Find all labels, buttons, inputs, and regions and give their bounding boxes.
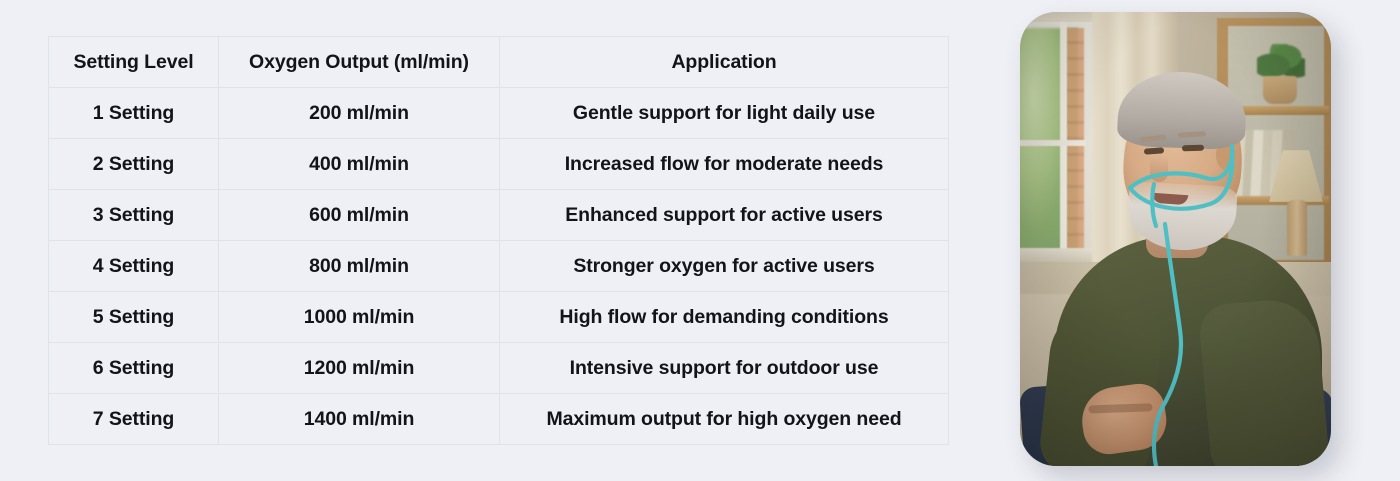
cell-oxygen-output: 1200 ml/min (219, 343, 500, 394)
cell-application: Intensive support for outdoor use (500, 343, 949, 394)
table-row: 4 Setting 800 ml/min Stronger oxygen for… (49, 241, 949, 292)
photo-vignette (1020, 12, 1331, 466)
cell-setting-level: 3 Setting (49, 190, 219, 241)
oxygen-setting-levels-table: Setting Level Oxygen Output (ml/min) App… (48, 36, 949, 445)
cell-oxygen-output: 800 ml/min (219, 241, 500, 292)
cell-oxygen-output: 400 ml/min (219, 139, 500, 190)
cell-setting-level: 7 Setting (49, 394, 219, 445)
table-header-row: Setting Level Oxygen Output (ml/min) App… (49, 37, 949, 88)
cell-application: Enhanced support for active users (500, 190, 949, 241)
cell-application: Stronger oxygen for active users (500, 241, 949, 292)
table-row: 5 Setting 1000 ml/min High flow for dema… (49, 292, 949, 343)
cell-application: Gentle support for light daily use (500, 88, 949, 139)
cell-application: Increased flow for moderate needs (500, 139, 949, 190)
table-header: Setting Level Oxygen Output (ml/min) App… (49, 37, 949, 88)
cell-setting-level: 5 Setting (49, 292, 219, 343)
cell-oxygen-output: 600 ml/min (219, 190, 500, 241)
cell-application: Maximum output for high oxygen need (500, 394, 949, 445)
table-row: 6 Setting 1200 ml/min Intensive support … (49, 343, 949, 394)
table-row: 7 Setting 1400 ml/min Maximum output for… (49, 394, 949, 445)
cell-setting-level: 2 Setting (49, 139, 219, 190)
table-row: 3 Setting 600 ml/min Enhanced support fo… (49, 190, 949, 241)
cell-setting-level: 1 Setting (49, 88, 219, 139)
cell-oxygen-output: 1400 ml/min (219, 394, 500, 445)
table-row: 2 Setting 400 ml/min Increased flow for … (49, 139, 949, 190)
table-row: 1 Setting 200 ml/min Gentle support for … (49, 88, 949, 139)
spec-table-container: Setting Level Oxygen Output (ml/min) App… (48, 36, 948, 445)
column-header-application: Application (500, 37, 949, 88)
cell-setting-level: 4 Setting (49, 241, 219, 292)
column-header-setting-level: Setting Level (49, 37, 219, 88)
table-body: 1 Setting 200 ml/min Gentle support for … (49, 88, 949, 445)
cell-oxygen-output: 200 ml/min (219, 88, 500, 139)
photo-scene (1020, 12, 1331, 466)
cell-application: High flow for demanding conditions (500, 292, 949, 343)
cell-oxygen-output: 1000 ml/min (219, 292, 500, 343)
column-header-oxygen-output: Oxygen Output (ml/min) (219, 37, 500, 88)
elderly-man-with-nasal-cannula-photo (1020, 12, 1331, 466)
page-root: Setting Level Oxygen Output (ml/min) App… (0, 0, 1400, 481)
cell-setting-level: 6 Setting (49, 343, 219, 394)
